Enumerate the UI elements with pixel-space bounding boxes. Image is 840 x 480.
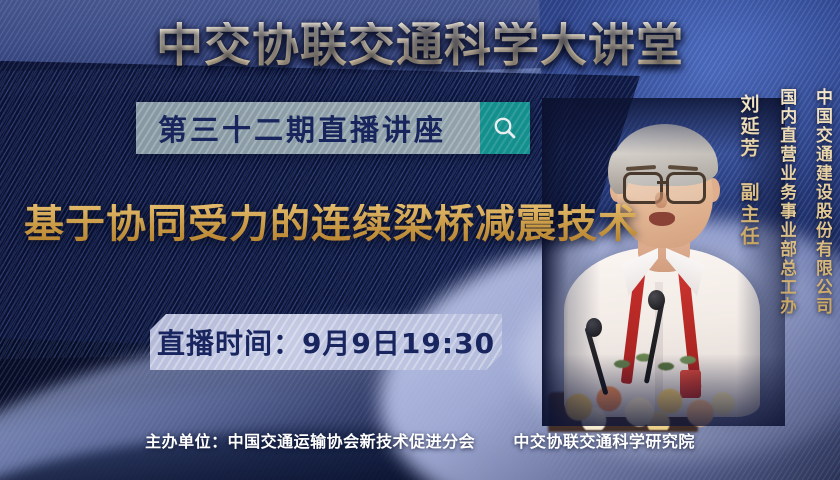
subtitle-label: 第三十二期直播讲座 [136, 107, 446, 149]
nose [655, 192, 667, 208]
subtitle-banner: 第三十二期直播讲座 [136, 102, 530, 154]
live-time-chip: 直播时间：9月9日19:30 [150, 314, 502, 370]
live-time-label: 直播时间：9月9日19:30 [157, 322, 495, 362]
lecture-title: 基于协同受力的连续梁桥减震技术 [24, 204, 639, 244]
glasses-lens-right [666, 172, 706, 204]
microphone-head-2 [586, 318, 602, 337]
footer-organizer-primary: 主办单位：中国交通运输协会新技术促进分会 [145, 432, 475, 451]
footer-organizers: 主办单位：中国交通运输协会新技术促进分会 中交协联交通科学研究院 [0, 428, 840, 452]
page-title: 中交协联交通科学大讲堂 [0, 22, 840, 69]
glasses-bridge [657, 181, 666, 184]
speaker-org-line-1: 中国交通建设股份有限公司 [810, 88, 832, 316]
speaker-name-title: 刘延芳 副主任 [736, 94, 760, 248]
search-icon[interactable] [480, 102, 530, 154]
footer-organizer-secondary: 中交协联交通科学研究院 [513, 432, 695, 451]
speaker-info-vertical: 中国交通建设股份有限公司 国内直营业务事业部总工办 刘延芳 副主任 [736, 88, 832, 316]
speaker-org-line-2: 国内直营业务事业部总工办 [775, 88, 797, 316]
microphone-head [648, 290, 665, 310]
live-lecture-poster: 中交协联交通科学大讲堂 第三十二期直播讲座 基于协同受力的连续梁桥减震技术 直播… [0, 0, 840, 480]
mouth [649, 212, 675, 226]
subtitle-bar: 第三十二期直播讲座 [136, 102, 480, 154]
